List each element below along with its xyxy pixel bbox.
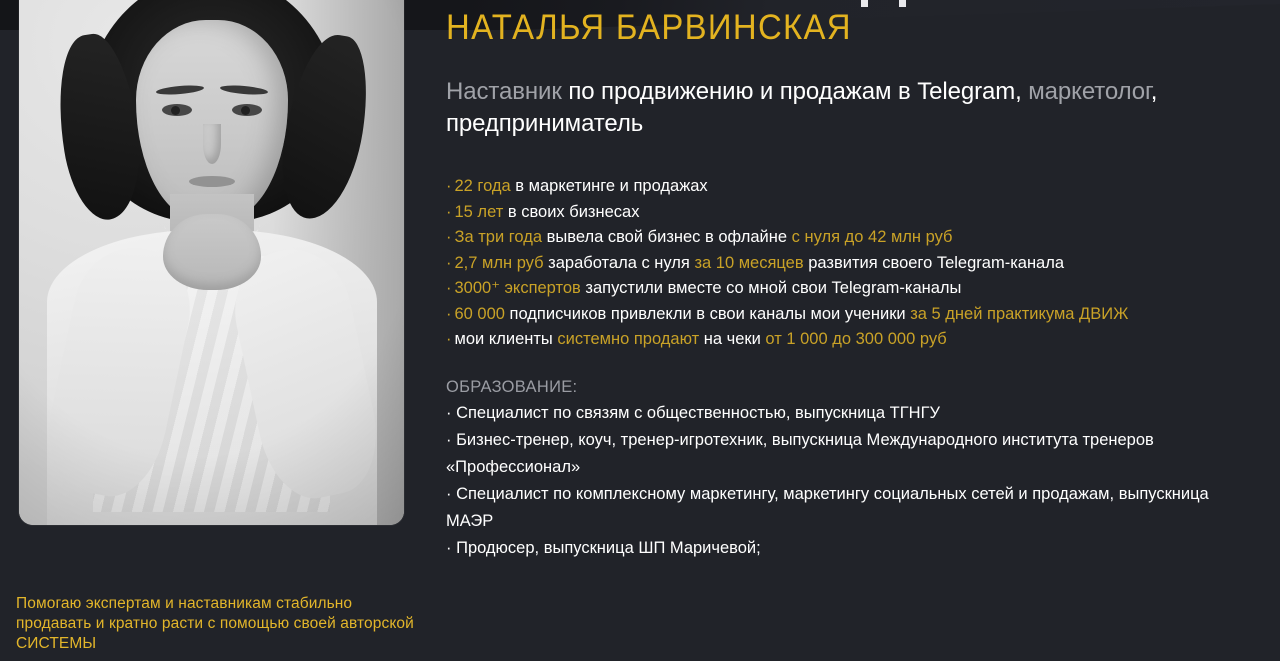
- fact-item: ·3000⁺ экспертов запустили вместе со мно…: [446, 276, 1262, 302]
- fact-highlight: системно продают: [557, 330, 699, 348]
- subtitle-segment-marketer: маркетолог: [1028, 78, 1151, 105]
- education-heading: ОБРАЗОВАНИЕ:: [446, 375, 1262, 400]
- fact-item: ·22 года в маркетинге и продажах: [446, 174, 1262, 200]
- tagline-text: Помогаю экспертам и наставникам стабильн…: [16, 594, 416, 654]
- subtitle-segment-main: по продвижению и продажам в Telegram: [568, 78, 1015, 105]
- fact-text: в маркетинге и продажах: [511, 177, 708, 195]
- education-item: · Специалист по комплексному маркетингу,…: [446, 481, 1236, 535]
- fact-bullet-icon: ·: [446, 305, 452, 323]
- fact-bullet-icon: ·: [446, 177, 452, 195]
- portrait-photo-frame: [19, 0, 404, 525]
- subtitle-segment-mentor: Наставник: [446, 78, 568, 105]
- fact-bullet-icon: ·: [446, 203, 452, 221]
- fact-highlight: 3000⁺ экспертов: [455, 279, 581, 297]
- content-column: НАТАЛЬЯ БАРВИНСКАЯ Наставник по продвиже…: [446, 0, 1262, 562]
- fact-highlight: 2,7 млн руб: [455, 254, 544, 272]
- fact-item: ·2,7 млн руб заработала с нуля за 10 мес…: [446, 251, 1262, 277]
- education-item: · Специалист по связям с общественностью…: [446, 400, 1236, 427]
- fact-bullet-icon: ·: [446, 254, 452, 272]
- fact-item: ·60 000 подписчиков привлекли в свои кан…: [446, 302, 1262, 328]
- fact-highlight: за 5 дней практикума ДВИЖ: [910, 305, 1128, 323]
- fact-highlight: 15 лет: [455, 203, 504, 221]
- portrait-photo: [19, 0, 404, 525]
- fact-highlight: с нуля до 42 млн руб: [792, 228, 953, 246]
- fact-text: заработала с нуля: [544, 254, 695, 272]
- fact-text: мои клиенты: [455, 330, 558, 348]
- fact-text: запустили вместе со мной свои Telegram-к…: [581, 279, 962, 297]
- fact-highlight: от 1 000 до 300 000 руб: [765, 330, 946, 348]
- fact-text: развития своего Telegram-канала: [804, 254, 1064, 272]
- subtitle: Наставник по продвижению и продажам в Te…: [446, 50, 1258, 140]
- education-item: · Бизнес-тренер, коуч, тренер-игротехник…: [446, 427, 1236, 481]
- fact-text: подписчиков привлекли в свои каналы мои …: [505, 305, 910, 323]
- education-item: · Продюсер, выпускница ШП Маричевой;: [446, 535, 1236, 562]
- fact-bullet-icon: ·: [446, 330, 452, 348]
- education-list: · Специалист по связям с общественностью…: [446, 400, 1262, 562]
- fact-item: ·За три года вывела свой бизнес в офлайн…: [446, 225, 1262, 251]
- fact-text: на чеки: [699, 330, 765, 348]
- fact-highlight: 60 000: [455, 305, 505, 323]
- page-title: НАТАЛЬЯ БАРВИНСКАЯ: [446, 0, 1213, 50]
- fact-highlight: 22 года: [455, 177, 511, 195]
- fact-bullet-icon: ·: [446, 279, 452, 297]
- fact-text: вывела свой бизнес в офлайне: [542, 228, 792, 246]
- fact-highlight: за 10 месяцев: [694, 254, 803, 272]
- slide-root: Помогаю экспертам и наставникам стабильн…: [0, 0, 1280, 661]
- photo-vignette: [19, 0, 404, 525]
- education-section: ОБРАЗОВАНИЕ: · Специалист по связям с об…: [446, 353, 1262, 562]
- fact-text: в своих бизнесах: [503, 203, 639, 221]
- fact-item: ·мои клиенты системно продают на чеки от…: [446, 327, 1262, 353]
- facts-list: ·22 года в маркетинге и продажах·15 лет …: [446, 140, 1262, 353]
- fact-highlight: За три года: [455, 228, 543, 246]
- fact-item: ·15 лет в своих бизнесах: [446, 200, 1262, 226]
- fact-bullet-icon: ·: [446, 228, 452, 246]
- subtitle-segment-comma: ,: [1015, 78, 1028, 105]
